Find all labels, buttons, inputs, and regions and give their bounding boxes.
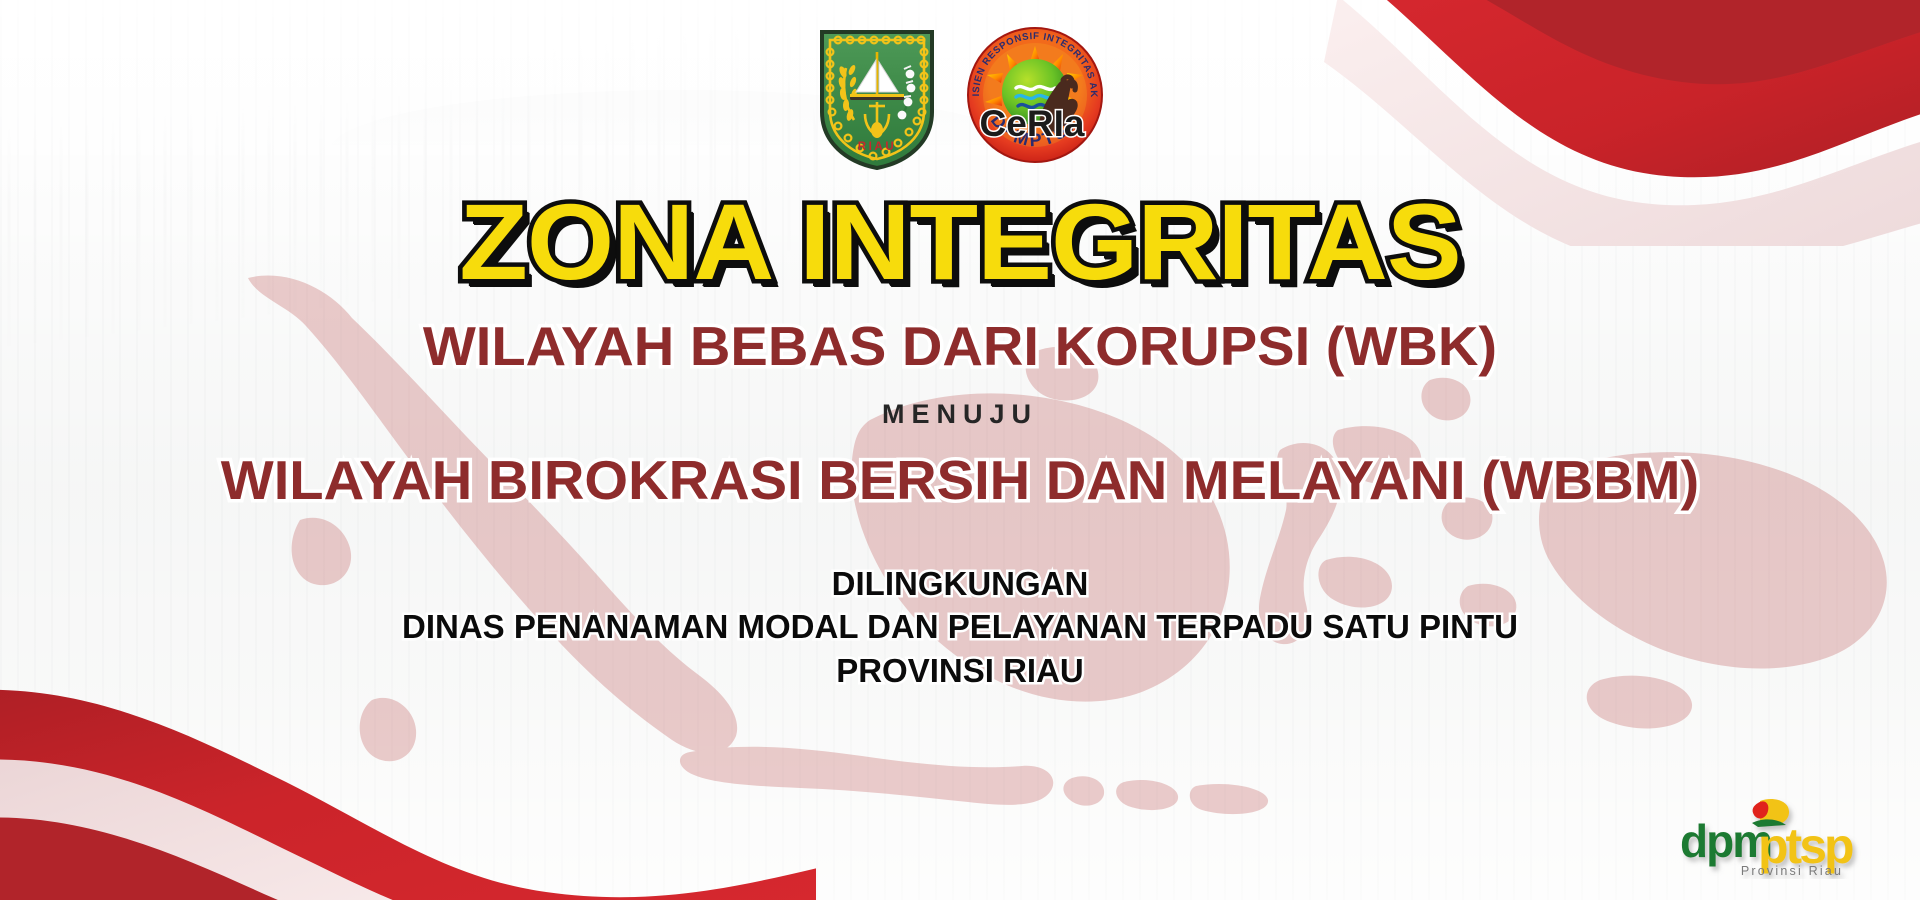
connector-label: MENUJU [0,399,1920,430]
zona-integritas-banner: RIAU [0,0,1920,900]
subtitle-wbbm: WILAYAH BIROKRASI BERSIH DAN MELAYANI (W… [0,452,1920,510]
footer-line-agency: DINAS PENANAMAN MODAL DAN PELAYANAN TERP… [0,605,1920,649]
page-title: ZONA INTEGRITAS [0,188,1920,296]
footer-line-dilingkungan: DILINGKUNGAN [0,562,1920,606]
footer-line-province: PROVINSI RIAU [0,649,1920,693]
banner-text-block: ZONA INTEGRITAS WILAYAH BEBAS DARI KORUP… [0,0,1920,692]
logo-tagline: Provinsi Riau [1741,864,1843,878]
footer-text-block: DILINGKUNGAN DINAS PENANAMAN MODAL DAN P… [0,562,1920,693]
dpmptsp-corner-logo: dpm ptsp Provinsi Riau [1674,793,1884,884]
subtitle-wbk: WILAYAH BEBAS DARI KORUPSI (WBK) [0,318,1920,376]
